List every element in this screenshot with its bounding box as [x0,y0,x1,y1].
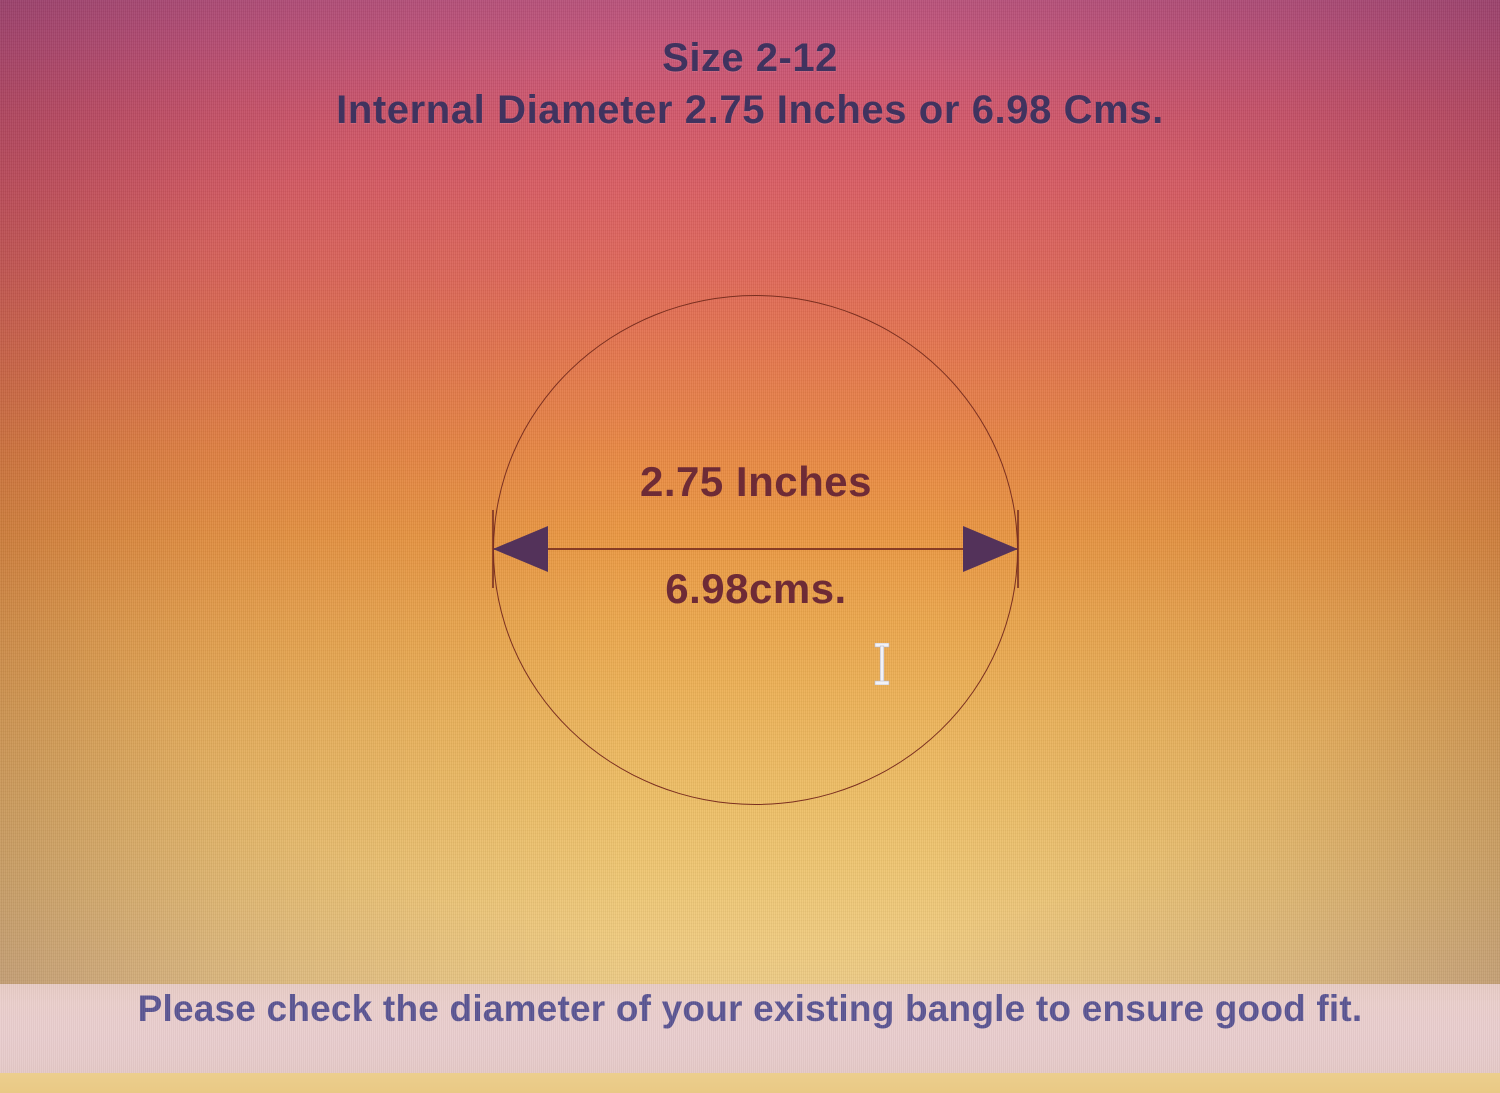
text-ibeam-cursor-icon [874,643,890,685]
bangle-size-chart-screenshot: Size 2-12 Internal Diameter 2.75 Inches … [0,0,1500,1093]
bangle-diameter-diagram: 2.75 Inches 6.98cms. [486,288,1026,813]
dimension-arrow-group [486,288,1026,813]
notice-banner: Please check the diameter of your existi… [0,984,1500,1073]
fit-check-notice-text: Please check the diameter of your existi… [138,988,1363,1030]
diameter-inches-label: 2.75 Inches [486,458,1026,506]
bottom-edge-strip [0,1073,1500,1093]
diameter-cms-label: 6.98cms. [486,565,1026,613]
